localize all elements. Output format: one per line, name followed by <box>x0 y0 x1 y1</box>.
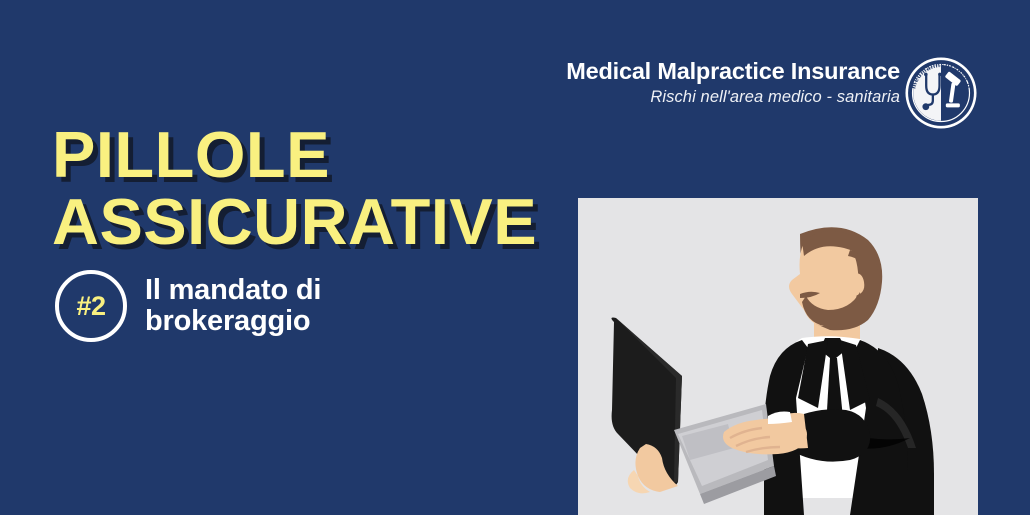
episode-topic-line-2: brokeraggio <box>145 306 321 337</box>
episode-number: #2 <box>76 293 105 320</box>
brand-block: Medical Malpractice Insurance Rischi nel… <box>545 58 900 108</box>
episode-number-badge: #2 <box>55 270 127 342</box>
episode-topic-line-1: Il mandato di <box>145 275 321 306</box>
illustration-panel <box>578 198 978 515</box>
logo-badge: medmalinsurance.it <box>904 56 978 130</box>
businessman-with-laptop-illustration <box>578 198 978 515</box>
page-title: PILLOLE ASSICURATIVE <box>52 124 572 254</box>
social-media-banner: Medical Malpractice Insurance Rischi nel… <box>0 0 1030 515</box>
page-title-line-1: PILLOLE <box>52 124 572 186</box>
page-title-line-2: ASSICURATIVE <box>52 191 572 253</box>
episode-row: #2 Il mandato di brokeraggio <box>55 270 321 342</box>
brand-title: Medical Malpractice Insurance <box>545 58 900 85</box>
brand-subtitle: Rischi nell'area medico - sanitaria <box>545 88 900 108</box>
episode-topic: Il mandato di brokeraggio <box>145 275 321 337</box>
